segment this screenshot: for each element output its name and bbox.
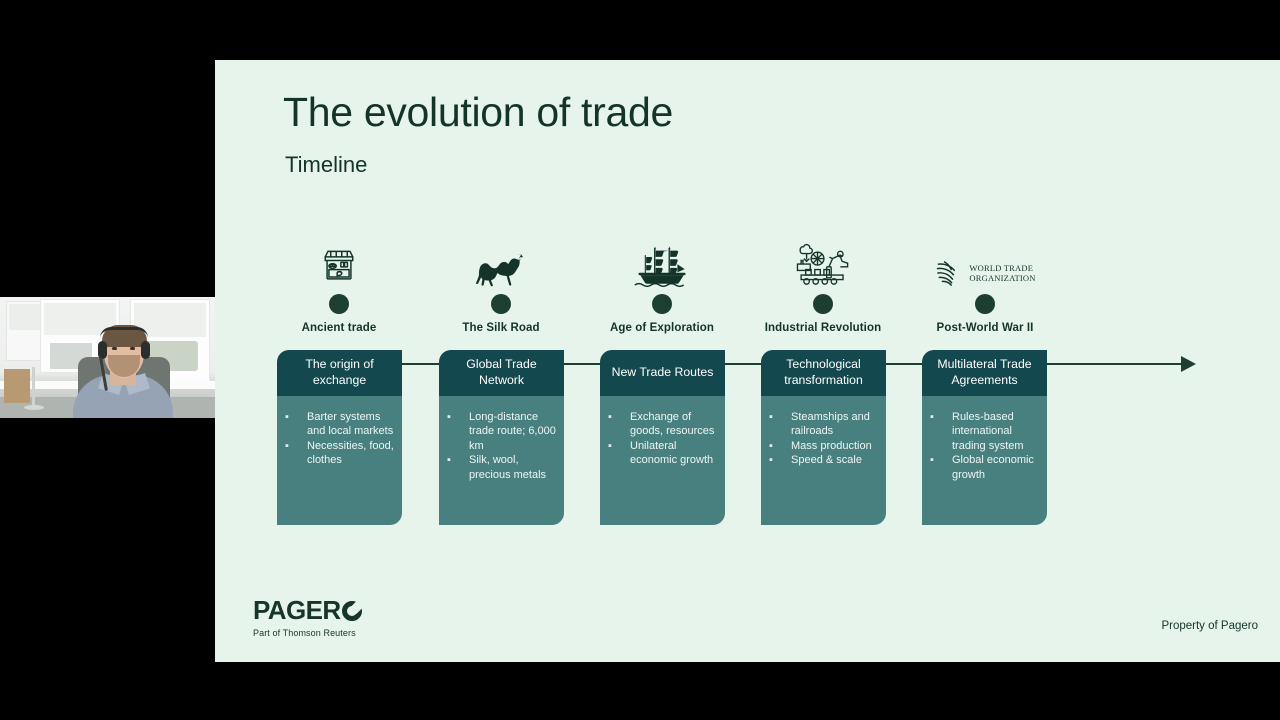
- timeline-dot: [491, 294, 511, 314]
- bullet-text: Silk, wool, precious metals: [469, 453, 556, 482]
- card-heading: Global Trade Network: [439, 350, 564, 396]
- timeline-dot: [329, 294, 349, 314]
- milestone-card[interactable]: Global Trade Network ▪ Long-distance tra…: [439, 350, 564, 525]
- bullet-text: Steamships and railroads: [791, 410, 878, 439]
- property-notice: Property of Pagero: [1161, 620, 1258, 632]
- card-bullet-item: ▪ Mass production: [765, 439, 878, 453]
- card-heading: The origin of exchange: [277, 350, 402, 396]
- card-bullet-item: ▪ Speed & scale: [765, 453, 878, 467]
- logo-o-mark-icon: [342, 601, 362, 621]
- card-bullet-item: ▪ Unilateral economic growth: [604, 439, 717, 468]
- bullet-icon: ▪: [443, 410, 469, 453]
- card-bullet-item: ▪ Global economic growth: [926, 453, 1039, 482]
- timeline-axis: [302, 363, 1182, 365]
- participant-eye-right: [130, 347, 135, 350]
- headset-band: [100, 327, 148, 338]
- timeline-label: Age of Exploration: [572, 322, 752, 334]
- bullet-icon: ▪: [765, 453, 791, 467]
- timeline-label: Industrial Revolution: [733, 322, 913, 334]
- timeline-dot: [813, 294, 833, 314]
- timeline-dot: [652, 294, 672, 314]
- timeline-dot: [975, 294, 995, 314]
- timeline-arrow-icon: [1181, 356, 1196, 372]
- card-heading: New Trade Routes: [600, 350, 725, 396]
- bullet-icon: ▪: [604, 439, 630, 468]
- wto-line-1: WORLD TRADE: [969, 264, 1035, 273]
- cabinet: [4, 369, 30, 403]
- milestone-card[interactable]: Technological transformation ▪ Steamship…: [761, 350, 886, 525]
- card-bullet-item: ▪ Long-distance trade route; 6,000 km: [443, 410, 556, 453]
- bullet-icon: ▪: [604, 410, 630, 439]
- timeline-label: Post-World War II: [895, 322, 1075, 334]
- logo-text: PAGER: [253, 595, 341, 626]
- milestone-card[interactable]: New Trade Routes ▪ Exchange of goods, re…: [600, 350, 725, 525]
- bullet-text: Exchange of goods, resources: [630, 410, 717, 439]
- bullet-text: Mass production: [791, 439, 878, 453]
- pagero-logo: PAGER Part of Thomson Reuters: [253, 595, 362, 638]
- card-bullet-item: ▪ Silk, wool, precious metals: [443, 453, 556, 482]
- screen: The evolution of trade Timeline: [0, 0, 1280, 720]
- card-heading: Multilateral Trade Agreements: [922, 350, 1047, 396]
- bullet-icon: ▪: [281, 439, 307, 468]
- bullet-text: Speed & scale: [791, 453, 878, 467]
- bullet-icon: ▪: [765, 410, 791, 439]
- card-body: ▪ Rules-based international trading syst…: [922, 396, 1047, 482]
- card-heading: Technological transformation: [761, 350, 886, 396]
- bullet-text: Rules-based international trading system: [952, 410, 1039, 453]
- camel-icon: [421, 230, 581, 288]
- card-body: ▪ Steamships and railroads ▪ Mass produc…: [761, 396, 886, 468]
- bullet-icon: ▪: [926, 453, 952, 482]
- card-bullet-item: ▪ Necessities, food, clothes: [281, 439, 394, 468]
- wto-line-2: ORGANIZATION: [969, 274, 1035, 283]
- card-bullet-item: ▪ Barter systems and local markets: [281, 410, 394, 439]
- timeline-label: Ancient trade: [249, 322, 429, 334]
- card-bullet-item: ▪ Steamships and railroads: [765, 410, 878, 439]
- participant-eye-left: [112, 347, 117, 350]
- timeline-label: The Silk Road: [411, 322, 591, 334]
- bullet-icon: ▪: [281, 410, 307, 439]
- lamp-pole: [32, 367, 35, 407]
- bullet-text: Barter systems and local markets: [307, 410, 394, 439]
- page-subtitle: Timeline: [285, 152, 367, 178]
- milestone-card[interactable]: Multilateral Trade Agreements ▪ Rules-ba…: [922, 350, 1047, 525]
- card-bullet-item: ▪ Exchange of goods, resources: [604, 410, 717, 439]
- logo-wordmark: PAGER: [253, 595, 362, 626]
- lamp-base: [24, 405, 44, 410]
- page-title: The evolution of trade: [283, 92, 673, 133]
- bullet-text: Long-distance trade route; 6,000 km: [469, 410, 556, 453]
- factory-robot-icon: [743, 230, 903, 288]
- market-stall-icon: [259, 230, 419, 288]
- wto-logo-icon: WORLD TRADE ORGANIZATION: [905, 230, 1065, 288]
- bullet-text: Necessities, food, clothes: [307, 439, 394, 468]
- bullet-text: Global economic growth: [952, 453, 1039, 482]
- bullet-text: Unilateral economic growth: [630, 439, 717, 468]
- presentation-slide: The evolution of trade Timeline: [215, 60, 1280, 662]
- card-body: ▪ Long-distance trade route; 6,000 km ▪ …: [439, 396, 564, 482]
- card-body: ▪ Exchange of goods, resources ▪ Unilate…: [600, 396, 725, 468]
- bullet-icon: ▪: [926, 410, 952, 453]
- webcam-thumbnail[interactable]: [0, 297, 215, 418]
- headset-earcup-right: [141, 341, 150, 359]
- bullet-icon: ▪: [765, 439, 791, 453]
- logo-tagline: Part of Thomson Reuters: [253, 628, 362, 638]
- bullet-icon: ▪: [443, 453, 469, 482]
- card-bullet-item: ▪ Rules-based international trading syst…: [926, 410, 1039, 453]
- sailing-ship-icon: [582, 230, 742, 288]
- milestone-card[interactable]: The origin of exchange ▪ Barter systems …: [277, 350, 402, 525]
- card-body: ▪ Barter systems and local markets ▪ Nec…: [277, 396, 402, 468]
